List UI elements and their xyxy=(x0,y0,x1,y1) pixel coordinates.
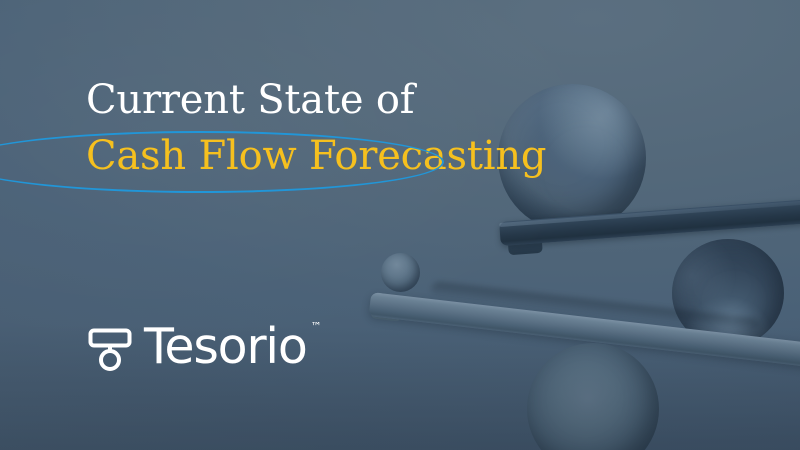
balance-scale-illustration xyxy=(0,0,800,450)
sphere-small xyxy=(381,253,420,292)
page-title: Current State of Cash Flow Forecasting xyxy=(86,74,546,184)
title-slide: Current State of Cash Flow Forecasting T… xyxy=(0,0,800,450)
title-line-accent: Cash Flow Forecasting xyxy=(86,128,546,184)
tesorio-wordmark: Tesorio ™ xyxy=(144,322,307,371)
wordmark-text: Tesorio xyxy=(144,318,307,375)
title-line-primary: Current State of xyxy=(86,74,546,126)
tesorio-logo[interactable]: Tesorio ™ xyxy=(88,322,307,371)
sphere-bottom xyxy=(527,343,659,450)
trademark-symbol: ™ xyxy=(311,321,322,332)
tesorio-balance-mark-icon xyxy=(88,323,132,371)
